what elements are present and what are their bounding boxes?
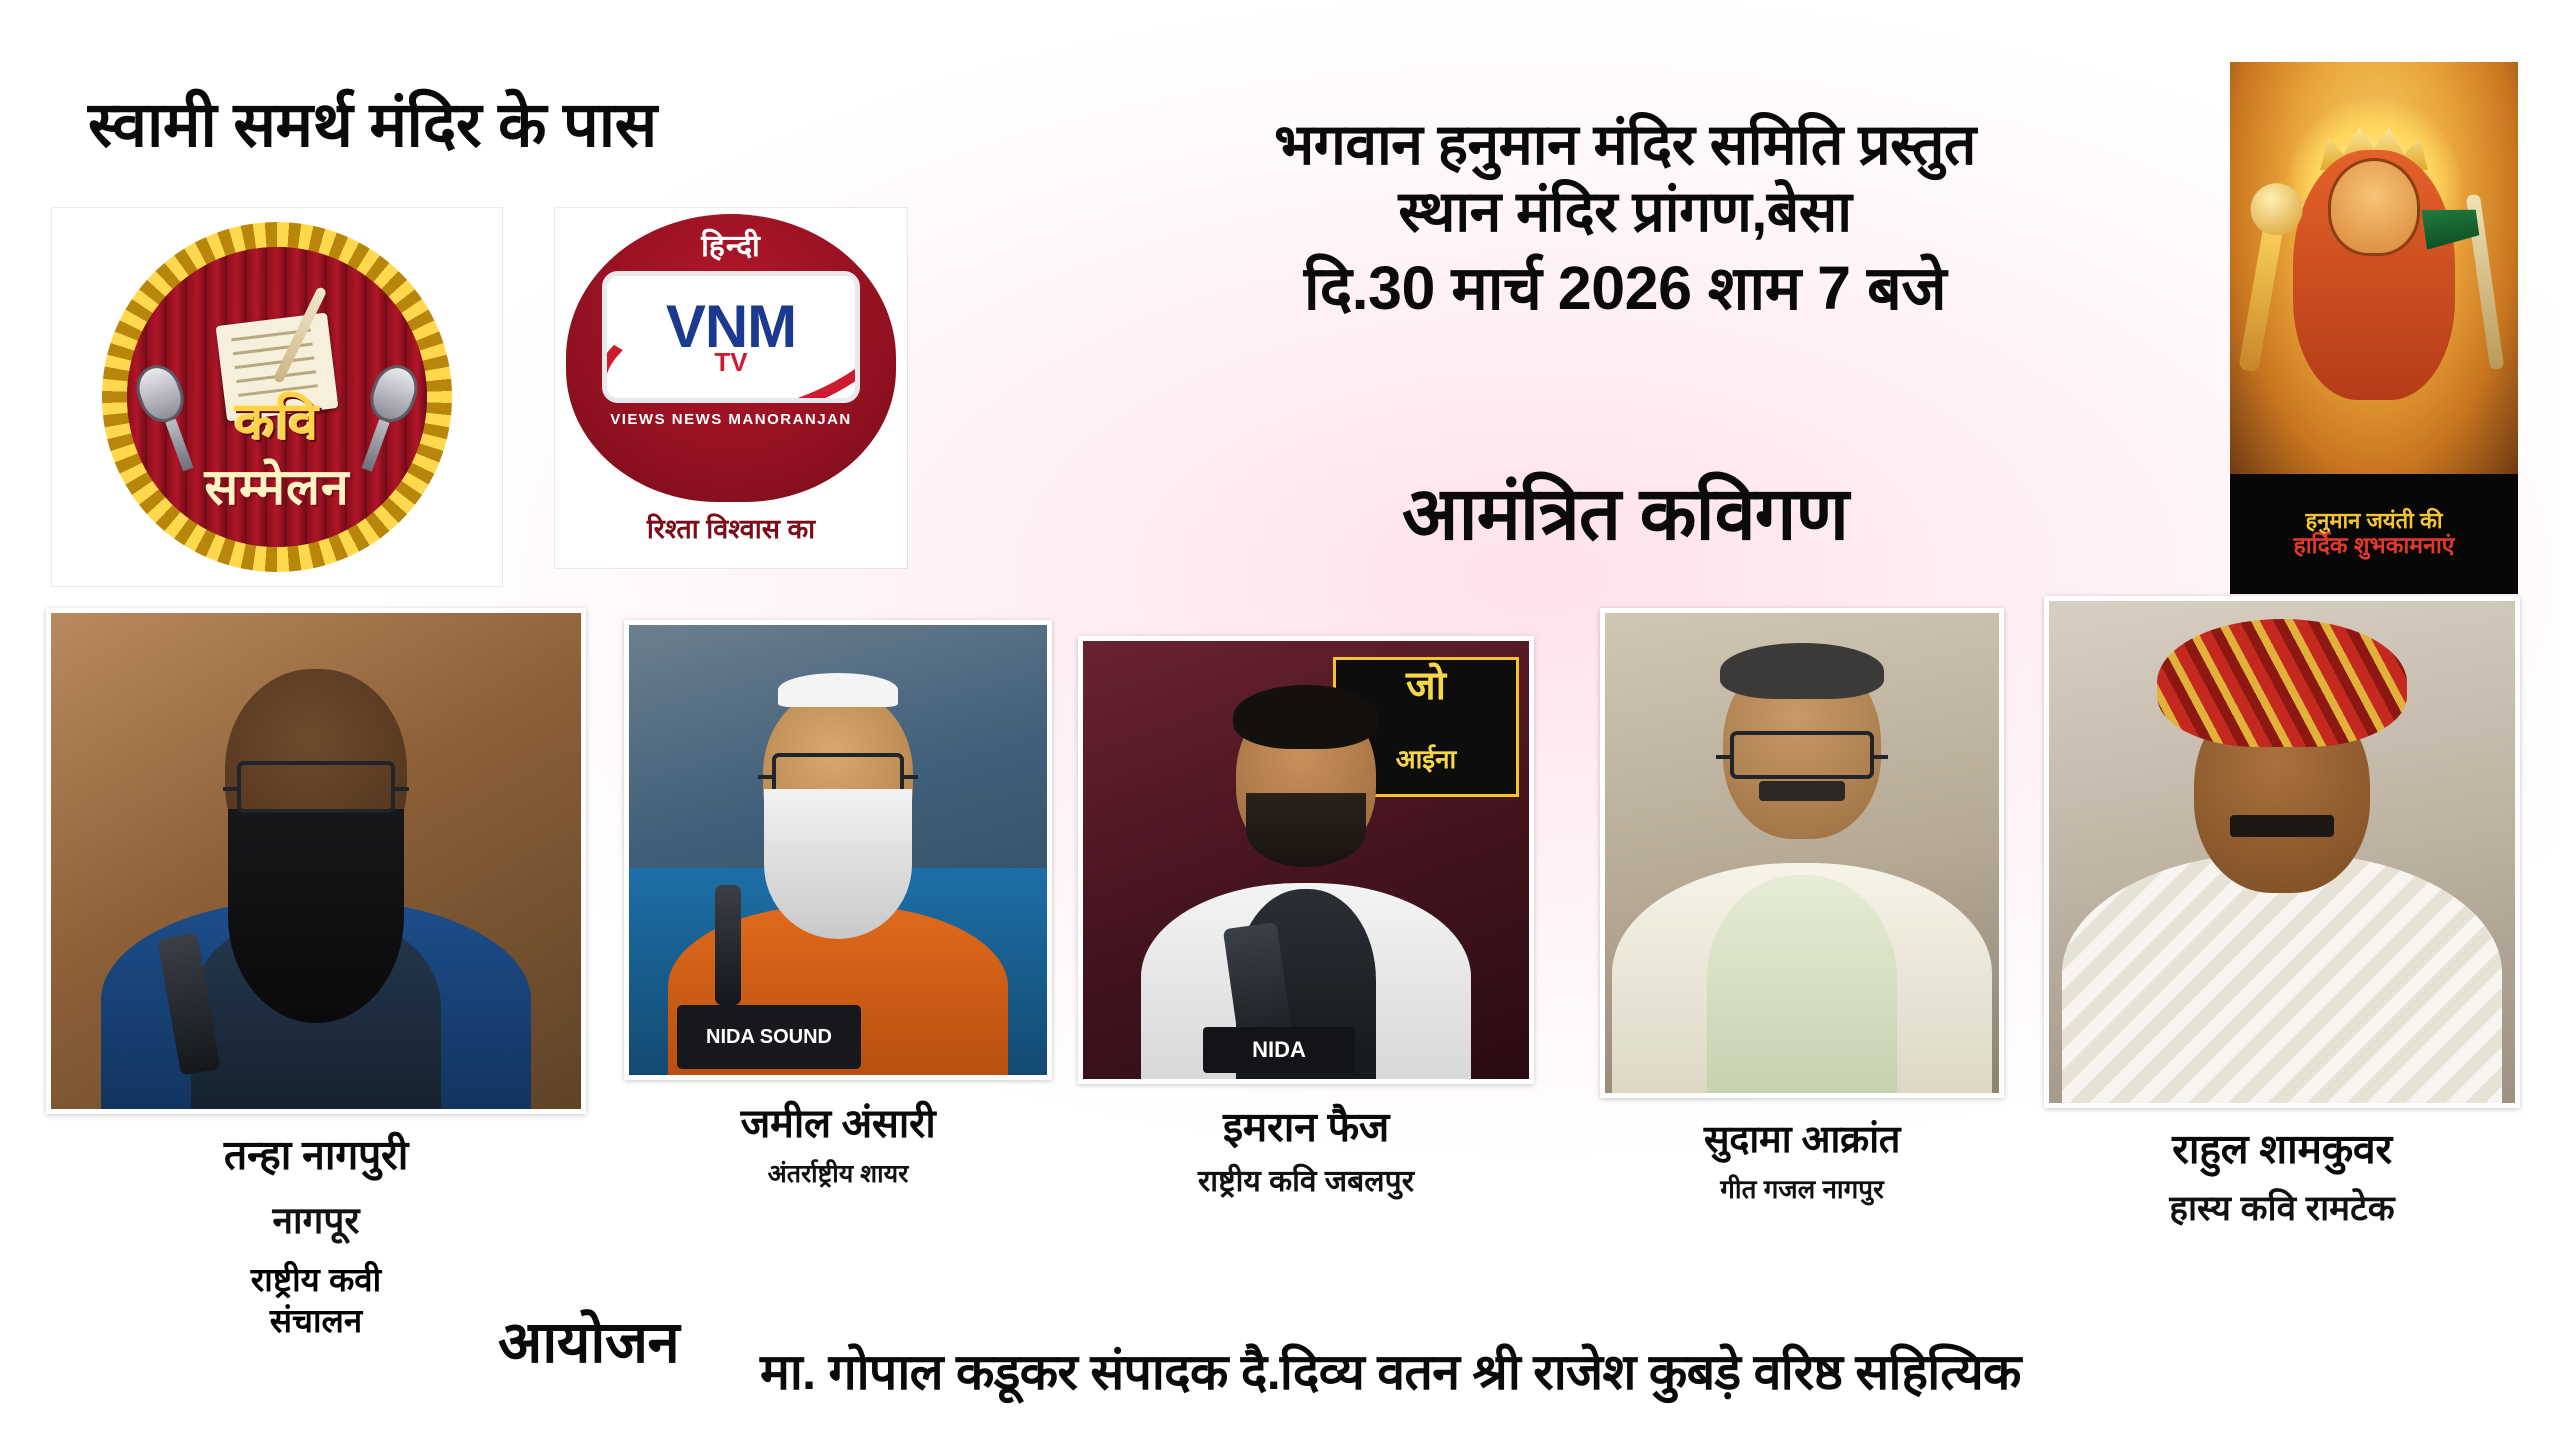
header-left-line: स्वामी समर्थ मंदिर के पास: [88, 92, 1048, 158]
poet-role: गीत गजल नागपुर: [1600, 1174, 2004, 1206]
poet-card-3: सुदामा आक्रांत गीत गजल नागपुर: [1600, 608, 2004, 1206]
poet-role: हास्य कवि रामटेक: [2044, 1188, 2520, 1231]
flag-icon: [2466, 194, 2504, 370]
header-center-block: भगवान हनुमान मंदिर समिति प्रस्तुत स्थान …: [1010, 112, 2240, 324]
logo-disc: कवि सम्मेलन: [102, 222, 452, 572]
invited-poets-title: आमंत्रित कविगण: [1010, 460, 2240, 561]
poet-photo-frame: [1600, 608, 2004, 1098]
poet-name: जमील अंसारी: [624, 1094, 1052, 1149]
poet-city: नागपूर: [46, 1198, 586, 1243]
photo-sign: NIDA: [1203, 1027, 1355, 1073]
vnm-screen-icon: VNM TV: [602, 271, 860, 403]
header-line-3-date: दि.30 मार्च 2026 शाम 7 बजे: [1010, 253, 2240, 325]
header-line-1: भगवान हनुमान मंदिर समिति प्रस्तुत: [1010, 112, 2240, 179]
vnm-tv-logo: हिन्दी VNM TV VIEWS NEWS MANORANJAN रिश्…: [555, 208, 907, 568]
vnm-expansion: VIEWS NEWS MANORANJAN: [610, 411, 852, 428]
logo-stage: कवि सम्मेलन: [127, 247, 427, 547]
poet-photo-frame: जो आईना NIDA: [1078, 636, 1534, 1084]
header-line-2: स्थान मंदिर प्रांगण,बेसा: [1010, 179, 2240, 246]
poet-photo-frame: NIDA SOUND: [624, 620, 1052, 1080]
poet-card-0: तन्हा नागपुरी नागपूर राष्ट्रीय कवी संचाल…: [46, 608, 586, 1341]
deity-face: [2328, 158, 2420, 256]
kavi-sammelan-logo: कवि सम्मेलन: [52, 208, 502, 586]
logo-word-kavi: कवि: [127, 384, 427, 455]
poet-card-2: जो आईना NIDA इमरान फैज राष्ट्रीय कवि जबल…: [1078, 636, 1534, 1201]
poet-card-4: राहुल शामकुवर हास्य कवि रामटेक: [2044, 596, 2520, 1231]
poet-role: अंतर्राष्ट्रीय शायर: [624, 1159, 1052, 1190]
hanuman-greeting-line-2: हार्दिक शुभकामनाएं: [2293, 533, 2454, 559]
poet-role: राष्ट्रीय कवी: [46, 1261, 586, 1300]
poet-photo: [1605, 613, 1999, 1093]
mace-icon: [2238, 211, 2285, 372]
poet-name: राहुल शामकुवर: [2044, 1120, 2520, 1176]
poet-name: तन्हा नागपुरी: [46, 1126, 586, 1182]
hanuman-greeting-panel: हनुमान जयंती की हार्दिक शुभकामनाएं: [2230, 62, 2518, 594]
photo-sign: NIDA SOUND: [677, 1005, 861, 1069]
event-poster: स्वामी समर्थ मंदिर के पास भगवान हनुमान म…: [0, 0, 2560, 1440]
poet-photo-frame: [46, 608, 586, 1114]
vnm-badge: हिन्दी VNM TV VIEWS NEWS MANORANJAN: [566, 214, 896, 502]
turban-graphic: [2157, 619, 2407, 747]
poet-photo: NIDA SOUND: [629, 625, 1047, 1075]
poet-photo: [2049, 601, 2515, 1103]
poet-role-secondary: संचालन: [46, 1302, 586, 1341]
hanuman-illustration: [2230, 62, 2518, 474]
poet-name: सुदामा आक्रांत: [1600, 1112, 2004, 1164]
poet-role: राष्ट्रीय कवि जबलपुर: [1078, 1164, 1534, 1201]
logo-word-sammelan: सम्मेलन: [127, 451, 427, 519]
hanuman-greeting-line-1: हनुमान जयंती की: [2305, 509, 2442, 534]
poet-photo: [51, 613, 581, 1109]
vnm-hindi-label: हिन्दी: [701, 224, 761, 265]
organizer-credits: मा. गोपाल कडूकर संपादक दै.दिव्य वतन श्री…: [760, 1336, 2021, 1404]
poet-name: इमरान फैज: [1078, 1098, 1534, 1154]
poet-card-1: NIDA SOUND जमील अंसारी अंतर्राष्ट्रीय शा…: [624, 620, 1052, 1190]
poet-photo: जो आईना NIDA: [1083, 641, 1529, 1079]
poet-photo-frame: [2044, 596, 2520, 1108]
vnm-tagline: रिश्ता विश्वास का: [647, 509, 815, 546]
